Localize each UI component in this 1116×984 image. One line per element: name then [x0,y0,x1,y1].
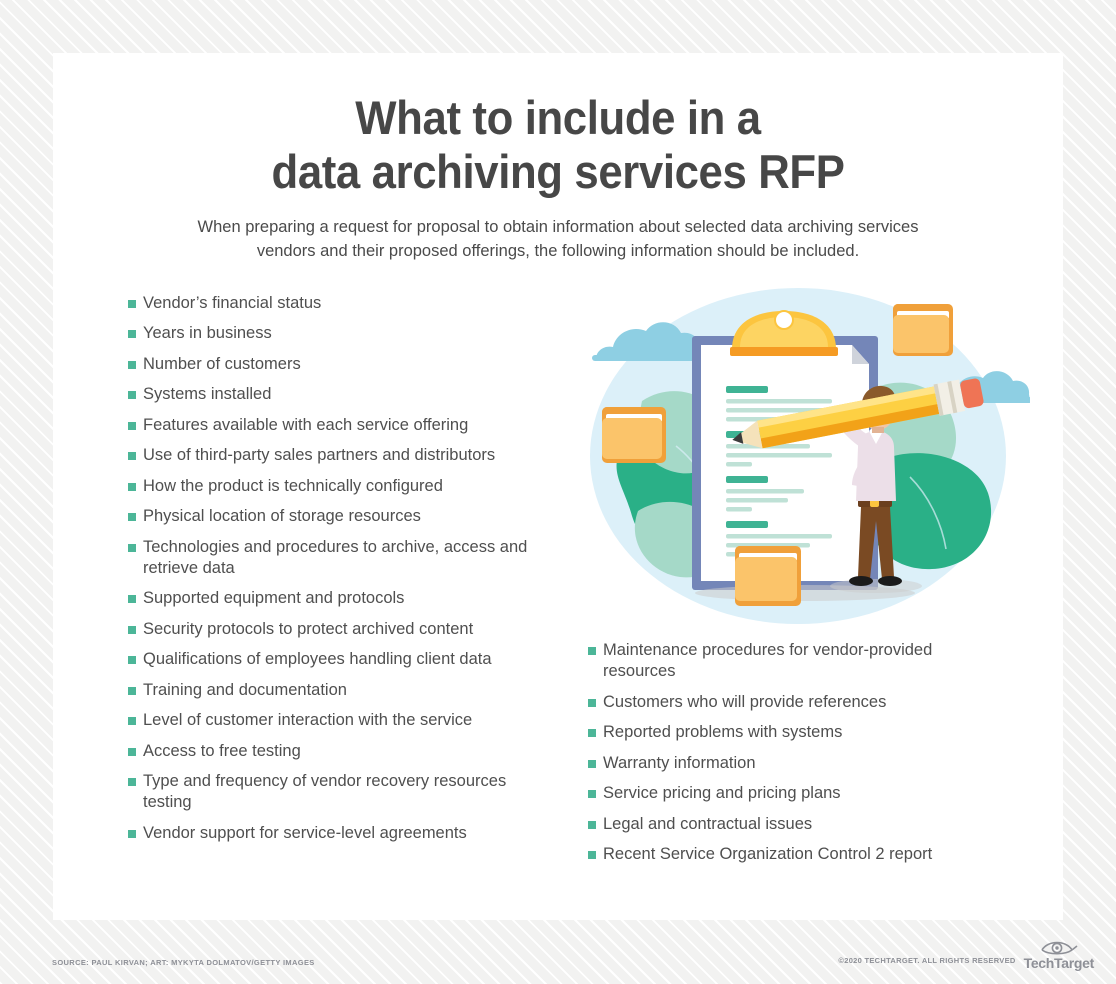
bullet-square-icon [128,391,136,399]
list-item-label: Use of third-party sales partners and di… [143,445,548,466]
techtarget-logo: TechTarget [1024,938,1094,970]
list-item: Number of customers [128,354,548,375]
subtitle: When preparing a request for proposal to… [133,216,983,263]
list-item: Security protocols to protect archived c… [128,619,548,640]
bullet-square-icon [128,422,136,430]
bullet-square-icon [128,513,136,521]
list-item: Access to free testing [128,741,548,762]
list-item-label: Maintenance procedures for vendor-provid… [603,640,1008,683]
list-item: Systems installed [128,384,548,405]
list-item-label: Legal and contractual issues [603,814,1008,835]
copyright-notice: ©2020 TECHTARGET. ALL RIGHTS RESERVED [838,956,1015,970]
bullet-square-icon [128,361,136,369]
list-item: Reported problems with systems [588,722,1008,743]
list-item-label: Level of customer interaction with the s… [143,710,548,731]
list-item-label: Recent Service Organization Control 2 re… [603,844,1008,865]
list-item: Physical location of storage resources [128,506,548,527]
list-item: Customers who will provide references [588,692,1008,713]
list-item-label: Customers who will provide references [603,692,1008,713]
list-item-label: Type and frequency of vendor recovery re… [143,771,548,814]
list-item: Maintenance procedures for vendor-provid… [588,640,1008,683]
rfp-illustration [580,281,1030,641]
header: What to include in a data archiving serv… [53,53,1063,263]
bullet-square-icon [588,647,596,655]
list-item: Recent Service Organization Control 2 re… [588,844,1008,865]
bullet-square-icon [128,452,136,460]
eye-icon [1039,938,1079,955]
list-item: Type and frequency of vendor recovery re… [128,771,548,814]
bullet-square-icon [588,699,596,707]
list-item-label: Warranty information [603,753,1008,774]
bullet-square-icon [128,717,136,725]
list-item-label: Vendor’s financial status [143,293,548,314]
list-item-label: Years in business [143,323,548,344]
list-item-label: Qualifications of employees handling cli… [143,649,548,670]
folder-top-right [893,304,953,356]
list-item: Years in business [128,323,548,344]
bullet-square-icon [588,760,596,768]
bullet-square-icon [128,483,136,491]
list-item: Legal and contractual issues [588,814,1008,835]
list-item-label: Physical location of storage resources [143,506,548,527]
list-item-label: Security protocols to protect archived c… [143,619,548,640]
left-bullet-column: Vendor’s financial status Years in busin… [128,293,548,853]
list-item-label: Supported equipment and protocols [143,588,548,609]
right-bullet-column: Maintenance procedures for vendor-provid… [588,640,1008,875]
left-bullet-list: Vendor’s financial status Years in busin… [128,293,548,844]
bullet-square-icon [128,656,136,664]
list-item: Training and documentation [128,680,548,701]
bullet-square-icon [128,544,136,552]
logo-wordmark: TechTarget [1024,956,1094,970]
list-item-label: Number of customers [143,354,548,375]
folder-left [602,407,666,463]
list-item-label: Reported problems with systems [603,722,1008,743]
subtitle-line-1: When preparing a request for proposal to… [133,216,983,239]
person-shadow [830,579,922,593]
page-title: What to include in a data archiving serv… [205,91,912,198]
list-item: How the product is technically configure… [128,476,548,497]
bullet-square-icon [128,626,136,634]
content-area: Vendor’s financial status Years in busin… [53,293,1063,893]
bullet-square-icon [128,330,136,338]
list-item-label: Systems installed [143,384,548,405]
list-item: Warranty information [588,753,1008,774]
bullet-square-icon [588,729,596,737]
list-item-label: Access to free testing [143,741,548,762]
list-item: Qualifications of employees handling cli… [128,649,548,670]
infographic-card: What to include in a data archiving serv… [53,53,1063,920]
bullet-square-icon [128,687,136,695]
title-line-1: What to include in a [205,91,912,145]
bullet-square-icon [128,595,136,603]
list-item: Service pricing and pricing plans [588,783,1008,804]
subtitle-line-2: vendors and their proposed offerings, th… [133,240,983,263]
footer-branding: ©2020 TECHTARGET. ALL RIGHTS RESERVED Te… [838,938,1094,970]
bullet-square-icon [128,748,136,756]
bullet-square-icon [588,851,596,859]
list-item: Features available with each service off… [128,415,548,436]
list-item-label: How the product is technically configure… [143,476,548,497]
list-item: Vendor support for service-level agreeme… [128,823,548,844]
list-item: Level of customer interaction with the s… [128,710,548,731]
bullet-square-icon [588,821,596,829]
bullet-square-icon [128,300,136,308]
list-item: Supported equipment and protocols [128,588,548,609]
list-item-label: Training and documentation [143,680,548,701]
source-credit: SOURCE: PAUL KIRVAN; ART: MYKYTA DOLMATO… [52,958,315,967]
list-item: Use of third-party sales partners and di… [128,445,548,466]
right-bullet-list: Maintenance procedures for vendor-provid… [588,640,1008,866]
bullet-square-icon [128,778,136,786]
list-item: Technologies and procedures to archive, … [128,537,548,580]
list-item-label: Service pricing and pricing plans [603,783,1008,804]
list-item-label: Technologies and procedures to archive, … [143,537,548,580]
bullet-square-icon [128,830,136,838]
folder-bottom [735,546,801,606]
list-item: Vendor’s financial status [128,293,548,314]
title-line-2: data archiving services RFP [205,145,912,199]
bullet-square-icon [588,790,596,798]
list-item-label: Features available with each service off… [143,415,548,436]
list-item-label: Vendor support for service-level agreeme… [143,823,548,844]
